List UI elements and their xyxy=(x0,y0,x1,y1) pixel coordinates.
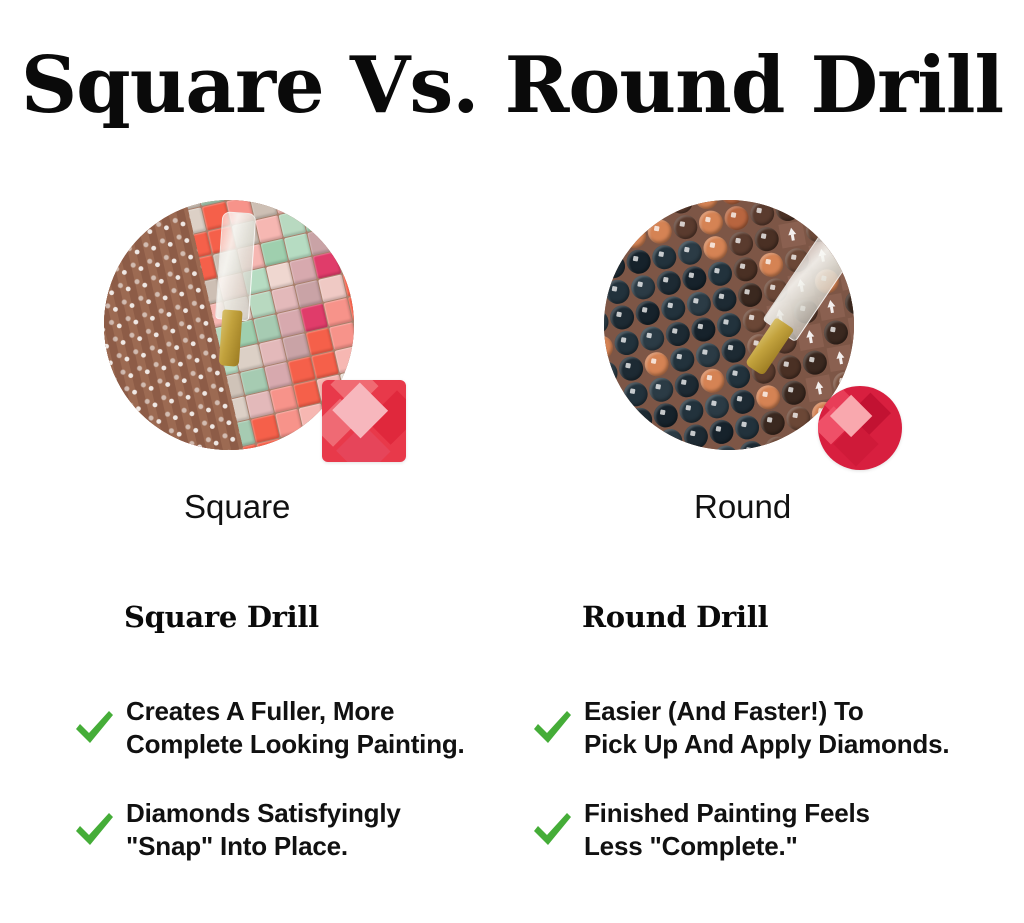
list-item-label: Diamonds Satisfyingly "Snap" Into Place. xyxy=(126,797,401,863)
column-heading-square: Square Drill xyxy=(124,600,542,634)
check-icon xyxy=(530,808,574,852)
page-title: Square Vs. Round Drill xyxy=(0,44,1024,128)
column-heading-round: Round Drill xyxy=(582,600,1000,634)
square-photo-group xyxy=(42,196,462,476)
round-photo-group xyxy=(542,196,962,476)
photo-comparison-row xyxy=(0,196,1024,476)
caption-square: Square xyxy=(184,488,290,526)
round-gem-icon xyxy=(818,386,902,470)
square-gem-icon xyxy=(322,380,406,462)
list-item: Creates A Fuller, More Complete Looking … xyxy=(72,690,542,766)
caption-round: Round xyxy=(694,488,791,526)
column-round-drill: Round Drill Easier (And Faster!) To Pick… xyxy=(530,600,1000,894)
column-square-drill: Square Drill Creates A Fuller, More Comp… xyxy=(72,600,542,894)
list-item-label: Easier (And Faster!) To Pick Up And Appl… xyxy=(584,695,949,761)
list-item-label: Creates A Fuller, More Complete Looking … xyxy=(126,695,465,761)
round-drill-photo xyxy=(604,200,854,450)
check-icon xyxy=(530,706,574,750)
list-item-label: Finished Painting Feels Less "Complete." xyxy=(584,797,870,863)
square-drill-photo xyxy=(104,200,354,450)
check-icon xyxy=(72,808,116,852)
list-item: Finished Painting Feels Less "Complete." xyxy=(530,792,1000,868)
list-item: Diamonds Satisfyingly "Snap" Into Place. xyxy=(72,792,542,868)
check-icon xyxy=(72,706,116,750)
list-item: Easier (And Faster!) To Pick Up And Appl… xyxy=(530,690,1000,766)
